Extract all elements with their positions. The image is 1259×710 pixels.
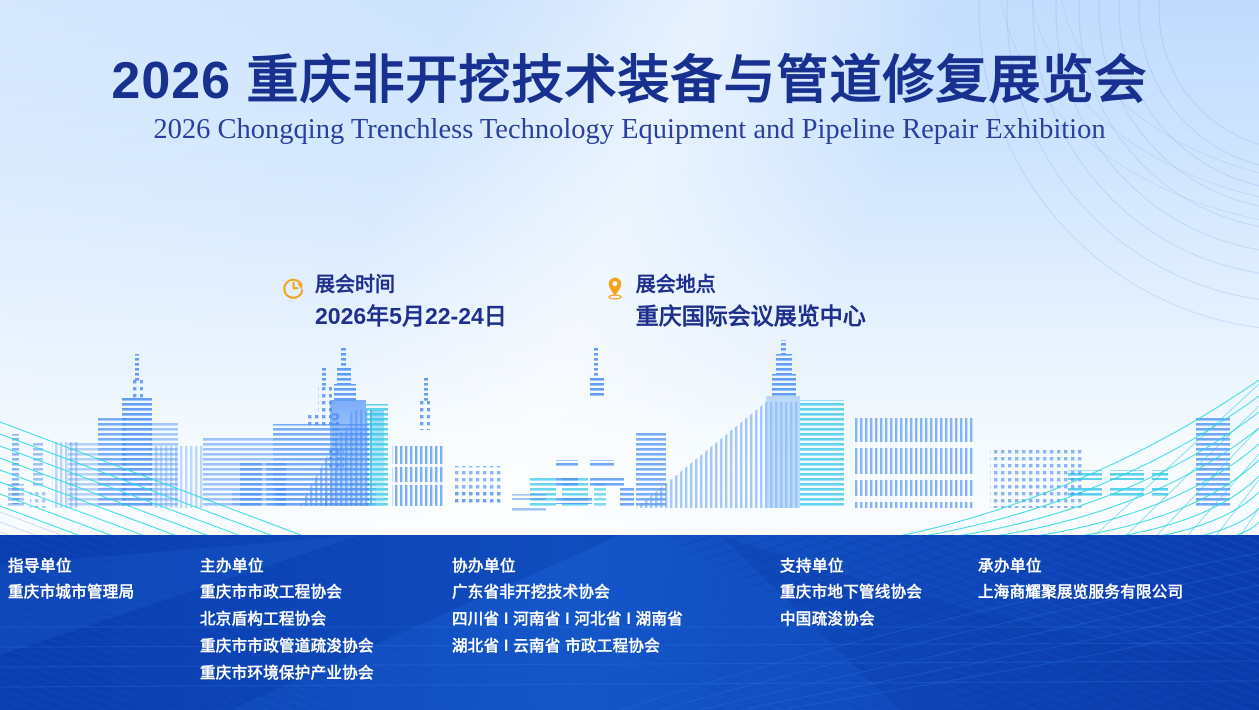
event-info-row: 展会时间 2026年5月22-24日 展会地点 重庆国际会议展览中心	[282, 272, 866, 331]
organizer-item: 北京盾构工程协会	[200, 606, 374, 633]
event-date-block: 展会时间 2026年5月22-24日	[282, 272, 507, 331]
event-date-label: 展会时间	[315, 274, 395, 296]
map-pin-icon	[603, 276, 627, 300]
organizer-item: 中国疏浚协会	[780, 606, 922, 633]
organizer-item: 湖北省 l 云南省 市政工程协会	[452, 633, 683, 660]
city-skyline-illustration	[0, 338, 1259, 538]
organizer-column-guidance: 指导单位 重庆市城市管理局	[8, 555, 134, 606]
organizer-columns: 指导单位 重庆市城市管理局 主办单位 重庆市市政工程协会 北京盾构工程协会 重庆…	[0, 555, 1259, 705]
page-subtitle: 2026 Chongqing Trenchless Technology Equ…	[0, 112, 1259, 148]
organizer-item: 广东省非开挖技术协会	[452, 579, 683, 606]
clock-icon	[282, 276, 306, 300]
organizer-item: 重庆市环境保护产业协会	[200, 660, 374, 687]
organizer-column-coorganizer: 协办单位 广东省非开挖技术协会 四川省 l 河南省 l 河北省 l 湖南省 湖北…	[452, 555, 683, 660]
organizer-column-undertaker: 承办单位 上海商耀聚展览服务有限公司	[978, 555, 1183, 606]
exhibition-banner: 2026 重庆非开挖技术装备与管道修复展览会 2026 Chongqing Tr…	[0, 0, 1259, 710]
organizer-item: 重庆市市政工程协会	[200, 579, 374, 606]
column-heading: 支持单位	[780, 555, 922, 579]
organizer-column-support: 支持单位 重庆市地下管线协会 中国疏浚协会	[780, 555, 922, 633]
organizer-item: 重庆市城市管理局	[8, 579, 134, 606]
city-skyline-detail-layer	[0, 338, 1259, 538]
organizer-column-host: 主办单位 重庆市市政工程协会 北京盾构工程协会 重庆市市政管道疏浚协会 重庆市环…	[200, 555, 374, 687]
organizer-item: 四川省 l 河南省 l 河北省 l 湖南省	[452, 606, 683, 633]
column-heading: 承办单位	[978, 555, 1183, 579]
organizer-item: 上海商耀聚展览服务有限公司	[978, 579, 1183, 606]
column-heading: 主办单位	[200, 555, 374, 579]
footer-top-divider	[0, 535, 1259, 539]
event-venue-block: 展会地点 重庆国际会议展览中心	[603, 272, 866, 331]
cyan-wave-mesh-decoration-left	[0, 420, 330, 550]
organizers-footer: 指导单位 重庆市城市管理局 主办单位 重庆市市政工程协会 北京盾构工程协会 重庆…	[0, 535, 1259, 710]
organizer-item: 重庆市市政管道疏浚协会	[200, 633, 374, 660]
column-heading: 协办单位	[452, 555, 683, 579]
column-heading: 指导单位	[8, 555, 134, 579]
organizer-item: 重庆市地下管线协会	[780, 579, 922, 606]
event-venue-value: 重庆国际会议展览中心	[636, 301, 866, 331]
page-title: 2026 重庆非开挖技术装备与管道修复展览会	[0, 52, 1259, 110]
event-venue-label: 展会地点	[636, 274, 716, 296]
banner-title-block: 2026 重庆非开挖技术装备与管道修复展览会 2026 Chongqing Tr…	[0, 52, 1259, 148]
event-date-value: 2026年5月22-24日	[315, 301, 507, 331]
cyan-wave-mesh-decoration	[839, 350, 1259, 550]
